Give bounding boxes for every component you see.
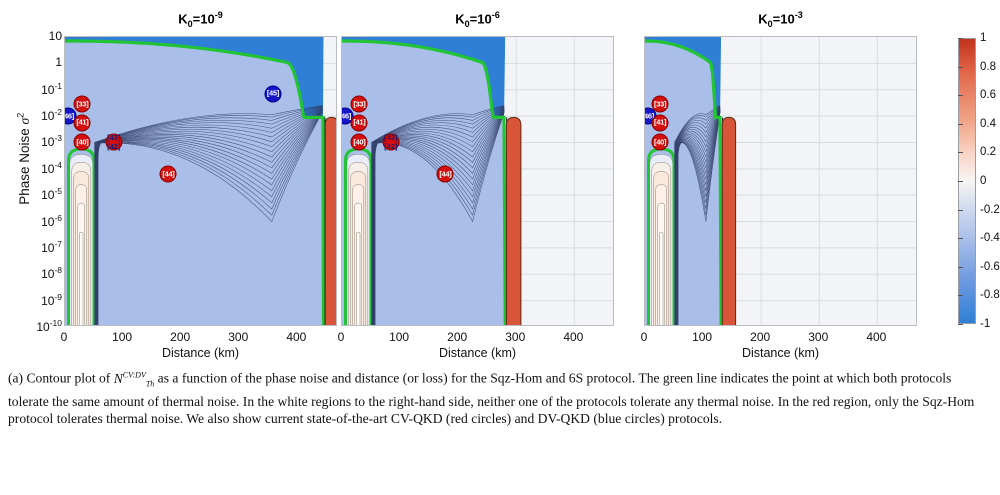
colorbar-tick-mark: [958, 295, 963, 296]
colorbar-tick: 1: [980, 32, 986, 44]
panel-title: K0=10-9: [64, 10, 337, 29]
y-tick-label: 10: [41, 241, 54, 255]
y-tick: 10: [16, 29, 62, 43]
colorbar-tick-mark: [958, 324, 963, 325]
colorbar-tick-mark: [958, 124, 963, 125]
y-tick: 10-9: [16, 292, 62, 308]
colorbar-tick-mark: [958, 181, 963, 182]
x-tick: 200: [170, 330, 190, 344]
y-tick-label: 10: [41, 267, 54, 281]
x-tick: 0: [61, 330, 68, 344]
y-tick-label: 10: [41, 109, 54, 123]
colorbar-tick-mark: [958, 152, 963, 153]
y-tick-label: 10: [49, 29, 62, 43]
x-tick: 100: [692, 330, 712, 344]
inner-contour-band: [660, 232, 663, 326]
y-tick-label: 1: [55, 55, 62, 69]
protocol-marker-red-41[interactable]: [41]: [351, 114, 368, 131]
y-tick: 10-8: [16, 265, 62, 281]
y-tick: 10-5: [16, 186, 62, 202]
protocol-marker-red-40[interactable]: [40]: [74, 134, 91, 151]
marker-bracket-label: [43][42]: [384, 133, 397, 151]
caption-part-a: (a) Contour plot of: [8, 371, 114, 386]
x-tick: 400: [286, 330, 306, 344]
contour-panel-3: [46][33][41][40]: [644, 36, 917, 326]
panel-title: K0=10-3: [644, 10, 917, 29]
colorbar-tick: 0.2: [980, 146, 996, 158]
protocol-marker-red-33[interactable]: [33]: [74, 96, 91, 113]
y-tick-label: 10: [36, 320, 49, 334]
panel-title: K0=10-6: [341, 10, 614, 29]
marker-bracket-label: [43][42]: [107, 133, 120, 151]
colorbar-tick: 0.6: [980, 89, 996, 101]
colorbar-tick: -0.2: [980, 204, 1000, 216]
colorbar-tick: 0.8: [980, 61, 996, 73]
colorbar-tick-mark: [958, 238, 963, 239]
contour-panel-1: [46][33][41][40][44][45][43][42]: [64, 36, 337, 326]
figure-caption: (a) Contour plot of NCV:DVTh as a functi…: [8, 366, 992, 428]
y-tick-label: 10: [41, 83, 54, 97]
y-tick-label: 10: [41, 162, 54, 176]
figure-root: Phase Noise σ2 10110-110-210-310-410-510…: [0, 0, 1000, 495]
y-tick-label: 10: [41, 294, 54, 308]
colorbar-tick-mark: [958, 95, 963, 96]
protocol-marker-blue-45[interactable]: [45]: [264, 85, 281, 102]
x-axis-label: Distance (km): [341, 346, 614, 360]
colorbar-tick: 0: [980, 175, 986, 187]
contour-artwork: [645, 37, 917, 326]
y-tick: 10-2: [16, 107, 62, 123]
colorbar-tick-mark: [958, 210, 963, 211]
y-tick-label: 10: [41, 188, 54, 202]
x-tick: 300: [228, 330, 248, 344]
inner-contour-band: [357, 232, 360, 326]
y-tick-label: 10: [41, 215, 54, 229]
protocol-marker-red-44[interactable]: [44]: [437, 166, 454, 183]
y-tick: 10-3: [16, 133, 62, 149]
x-tick: 100: [389, 330, 409, 344]
red-region: [722, 117, 735, 326]
y-tick: 1: [16, 55, 62, 69]
x-tick: 200: [447, 330, 467, 344]
colorbar-tick: -0.4: [980, 232, 1000, 244]
x-tick: 300: [808, 330, 828, 344]
x-tick: 400: [866, 330, 886, 344]
x-tick: 400: [563, 330, 583, 344]
contour-artwork: [342, 37, 614, 326]
white-region: [505, 37, 614, 326]
colorbar-tick: -1: [980, 318, 990, 330]
inner-contour-band: [80, 232, 83, 326]
x-tick: 300: [505, 330, 525, 344]
y-axis-ticks: 10110-110-210-310-410-510-610-710-810-91…: [12, 36, 62, 326]
x-tick: 100: [112, 330, 132, 344]
contour-panel-2: [46][33][41][40][44][43][42]: [341, 36, 614, 326]
y-tick: 10-4: [16, 160, 62, 176]
red-region: [506, 117, 521, 326]
y-tick: 10-10: [16, 318, 62, 334]
x-axis-label: Distance (km): [64, 346, 337, 360]
y-tick: 10-7: [16, 239, 62, 255]
protocol-marker-red-33[interactable]: [33]: [652, 96, 669, 113]
protocol-marker-red-44[interactable]: [44]: [160, 166, 177, 183]
protocol-marker-red-41[interactable]: [41]: [652, 114, 669, 131]
caption-math-var: NCV:DVTh: [114, 371, 155, 386]
protocol-marker-red-33[interactable]: [33]: [351, 96, 368, 113]
x-axis-label: Distance (km): [644, 346, 917, 360]
red-region: [325, 117, 337, 326]
colorbar-tick-mark: [958, 267, 963, 268]
light-blue-region: [65, 41, 323, 326]
colorbar-tick: -0.6: [980, 261, 1000, 273]
x-tick: 0: [338, 330, 345, 344]
colorbar-tick: -0.8: [980, 289, 1000, 301]
y-tick: 10-1: [16, 81, 62, 97]
x-tick: 200: [750, 330, 770, 344]
y-tick: 10-6: [16, 213, 62, 229]
protocol-marker-red-40[interactable]: [40]: [351, 134, 368, 151]
contour-figure: Phase Noise σ2 10110-110-210-310-410-510…: [0, 0, 1000, 362]
y-tick-label: 10: [41, 135, 54, 149]
colorbar-tick: 0.4: [980, 118, 996, 130]
protocol-marker-red-41[interactable]: [41]: [74, 114, 91, 131]
colorbar-tick-mark: [958, 67, 963, 68]
x-tick: 0: [641, 330, 648, 344]
protocol-marker-red-40[interactable]: [40]: [652, 134, 669, 151]
colorbar-tick-mark: [958, 38, 963, 39]
contour-artwork: [65, 37, 337, 326]
